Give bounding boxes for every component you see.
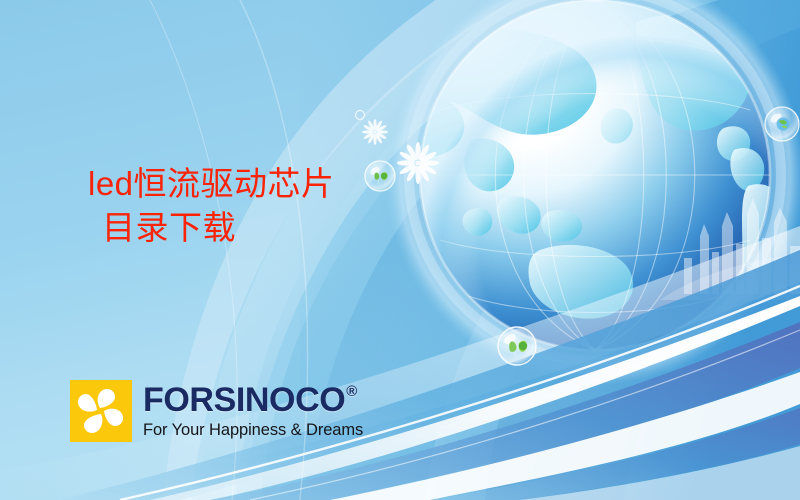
- bubble-globe-right-icon: [765, 107, 799, 141]
- pinwheel-logo-icon: [70, 380, 132, 442]
- headline-line-2: 目录下载: [102, 206, 335, 250]
- banner-canvas: led恒流驱动芯片 目录下载 FORSINOCO ® For Your Happ…: [0, 0, 800, 500]
- hero-headline: led恒流驱动芯片 目录下载: [88, 162, 335, 249]
- registered-trademark-icon: ®: [346, 384, 357, 399]
- brand-name-row: FORSINOCO ®: [143, 383, 363, 417]
- brand-name: FORSINOCO: [143, 383, 345, 417]
- bubble-leaf-lower-icon: [498, 327, 536, 365]
- brand-tagline: For Your Happiness & Dreams: [143, 422, 363, 439]
- brand-logo[interactable]: FORSINOCO ® For Your Happiness & Dreams: [70, 380, 363, 442]
- brand-wordmark: FORSINOCO ® For Your Happiness & Dreams: [143, 380, 363, 442]
- headline-line-1: led恒流驱动芯片: [88, 162, 335, 206]
- bubble-leaf-center-icon: [365, 161, 395, 191]
